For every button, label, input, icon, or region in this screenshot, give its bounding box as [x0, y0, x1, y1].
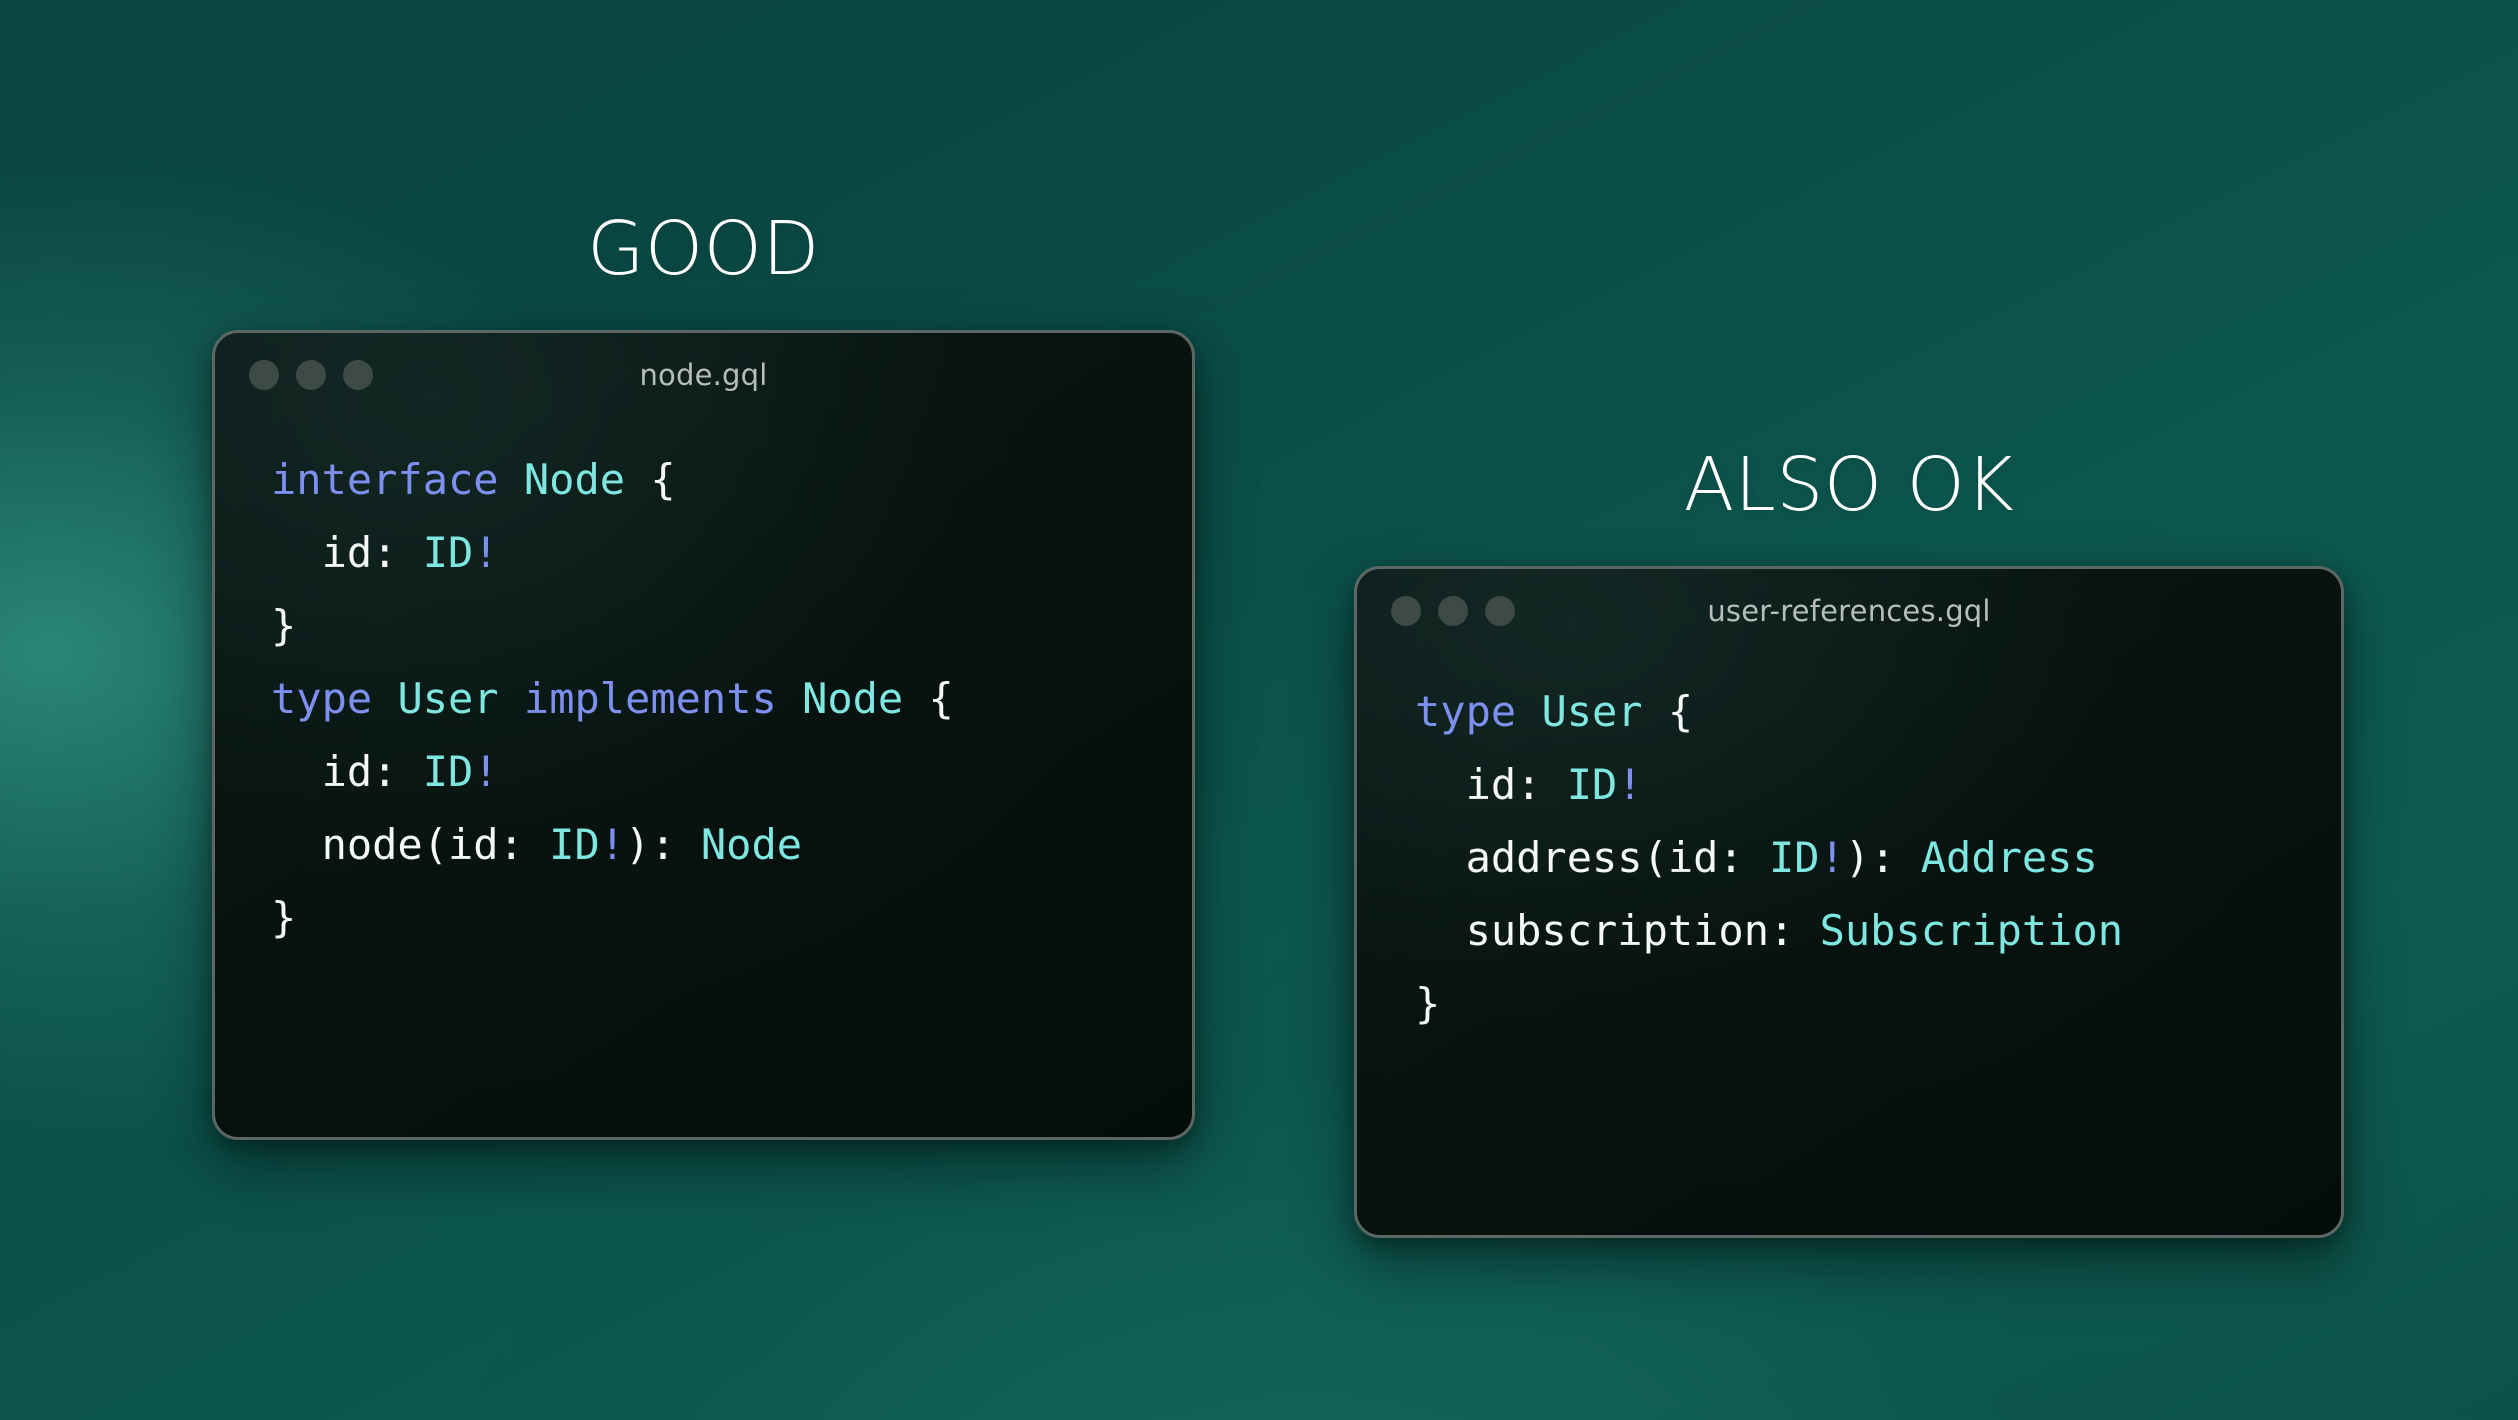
- close-dot-icon[interactable]: [249, 360, 279, 390]
- code-token-punctuation: node(id:: [271, 820, 549, 869]
- code-line: }: [271, 881, 1192, 954]
- code-line: interface Node {: [271, 443, 1192, 516]
- code-line: }: [1415, 967, 2341, 1040]
- code-token-punctuation: {: [625, 455, 676, 504]
- code-line: id: ID!: [271, 735, 1192, 808]
- traffic-lights-good: [249, 360, 373, 390]
- code-line: address(id: ID!): Address: [1415, 821, 2341, 894]
- code-token-keyword: type: [271, 674, 372, 723]
- code-line: id: ID!: [1415, 748, 2341, 821]
- code-token-punctuation: {: [903, 674, 954, 723]
- window-titlebar-also-ok: user-references.gql: [1357, 569, 2341, 653]
- panel-also-ok: ALSO OK user-references.gql type User { …: [1354, 448, 2344, 1238]
- code-token-type: Node: [701, 820, 802, 869]
- code-token-type: ID: [1567, 760, 1618, 809]
- code-token-punctuation: }: [271, 893, 296, 942]
- code-token-type: User: [1541, 687, 1642, 736]
- code-line: }: [271, 589, 1192, 662]
- code-token-keyword: implements: [524, 674, 777, 723]
- code-token-punctuation: [499, 674, 524, 723]
- code-token-punctuation: }: [271, 601, 296, 650]
- code-token-type: Subscription: [1820, 906, 2123, 955]
- background-canvas: GOOD node.gql interface Node { id: ID!}t…: [0, 0, 2518, 1420]
- maximize-dot-icon[interactable]: [1485, 596, 1515, 626]
- code-token-punctuation: ):: [625, 820, 701, 869]
- close-dot-icon[interactable]: [1391, 596, 1421, 626]
- code-token-punctuation: [372, 674, 397, 723]
- code-line: subscription: Subscription: [1415, 894, 2341, 967]
- code-token-type: ID: [1769, 833, 1820, 882]
- minimize-dot-icon[interactable]: [296, 360, 326, 390]
- code-token-punctuation: [499, 455, 524, 504]
- code-token-keyword: type: [1415, 687, 1516, 736]
- code-token-keyword: !: [473, 747, 498, 796]
- code-token-type: Node: [524, 455, 625, 504]
- code-token-keyword: interface: [271, 455, 499, 504]
- code-token-type: ID: [423, 528, 474, 577]
- code-window-also-ok: user-references.gql type User { id: ID! …: [1354, 566, 2344, 1238]
- code-content-good: interface Node { id: ID!}type User imple…: [215, 417, 1192, 954]
- panel-heading-good: GOOD: [212, 212, 1195, 286]
- code-token-punctuation: ):: [1845, 833, 1921, 882]
- code-token-keyword: !: [1820, 833, 1845, 882]
- code-token-punctuation: id:: [1415, 760, 1567, 809]
- code-token-type: User: [397, 674, 498, 723]
- panel-heading-also-ok: ALSO OK: [1354, 448, 2344, 522]
- window-titlebar-good: node.gql: [215, 333, 1192, 417]
- code-line: id: ID!: [271, 516, 1192, 589]
- code-token-punctuation: id:: [271, 747, 423, 796]
- code-token-keyword: !: [1617, 760, 1642, 809]
- traffic-lights-also-ok: [1391, 596, 1515, 626]
- code-token-keyword: !: [473, 528, 498, 577]
- code-token-punctuation: id:: [271, 528, 423, 577]
- code-token-keyword: !: [600, 820, 625, 869]
- code-token-type: Node: [802, 674, 903, 723]
- code-token-type: ID: [423, 747, 474, 796]
- code-content-also-ok: type User { id: ID! address(id: ID!): Ad…: [1357, 653, 2341, 1040]
- code-token-type: Address: [1921, 833, 2098, 882]
- code-token-punctuation: }: [1415, 979, 1440, 1028]
- code-token-punctuation: [1516, 687, 1541, 736]
- code-window-good: node.gql interface Node { id: ID!}type U…: [212, 330, 1195, 1140]
- code-token-punctuation: subscription:: [1415, 906, 1820, 955]
- code-token-punctuation: [777, 674, 802, 723]
- panel-good: GOOD node.gql interface Node { id: ID!}t…: [212, 212, 1195, 1140]
- maximize-dot-icon[interactable]: [343, 360, 373, 390]
- code-line: node(id: ID!): Node: [271, 808, 1192, 881]
- code-token-punctuation: address(id:: [1415, 833, 1769, 882]
- code-token-punctuation: {: [1643, 687, 1694, 736]
- minimize-dot-icon[interactable]: [1438, 596, 1468, 626]
- code-token-type: ID: [549, 820, 600, 869]
- code-line: type User {: [1415, 675, 2341, 748]
- code-line: type User implements Node {: [271, 662, 1192, 735]
